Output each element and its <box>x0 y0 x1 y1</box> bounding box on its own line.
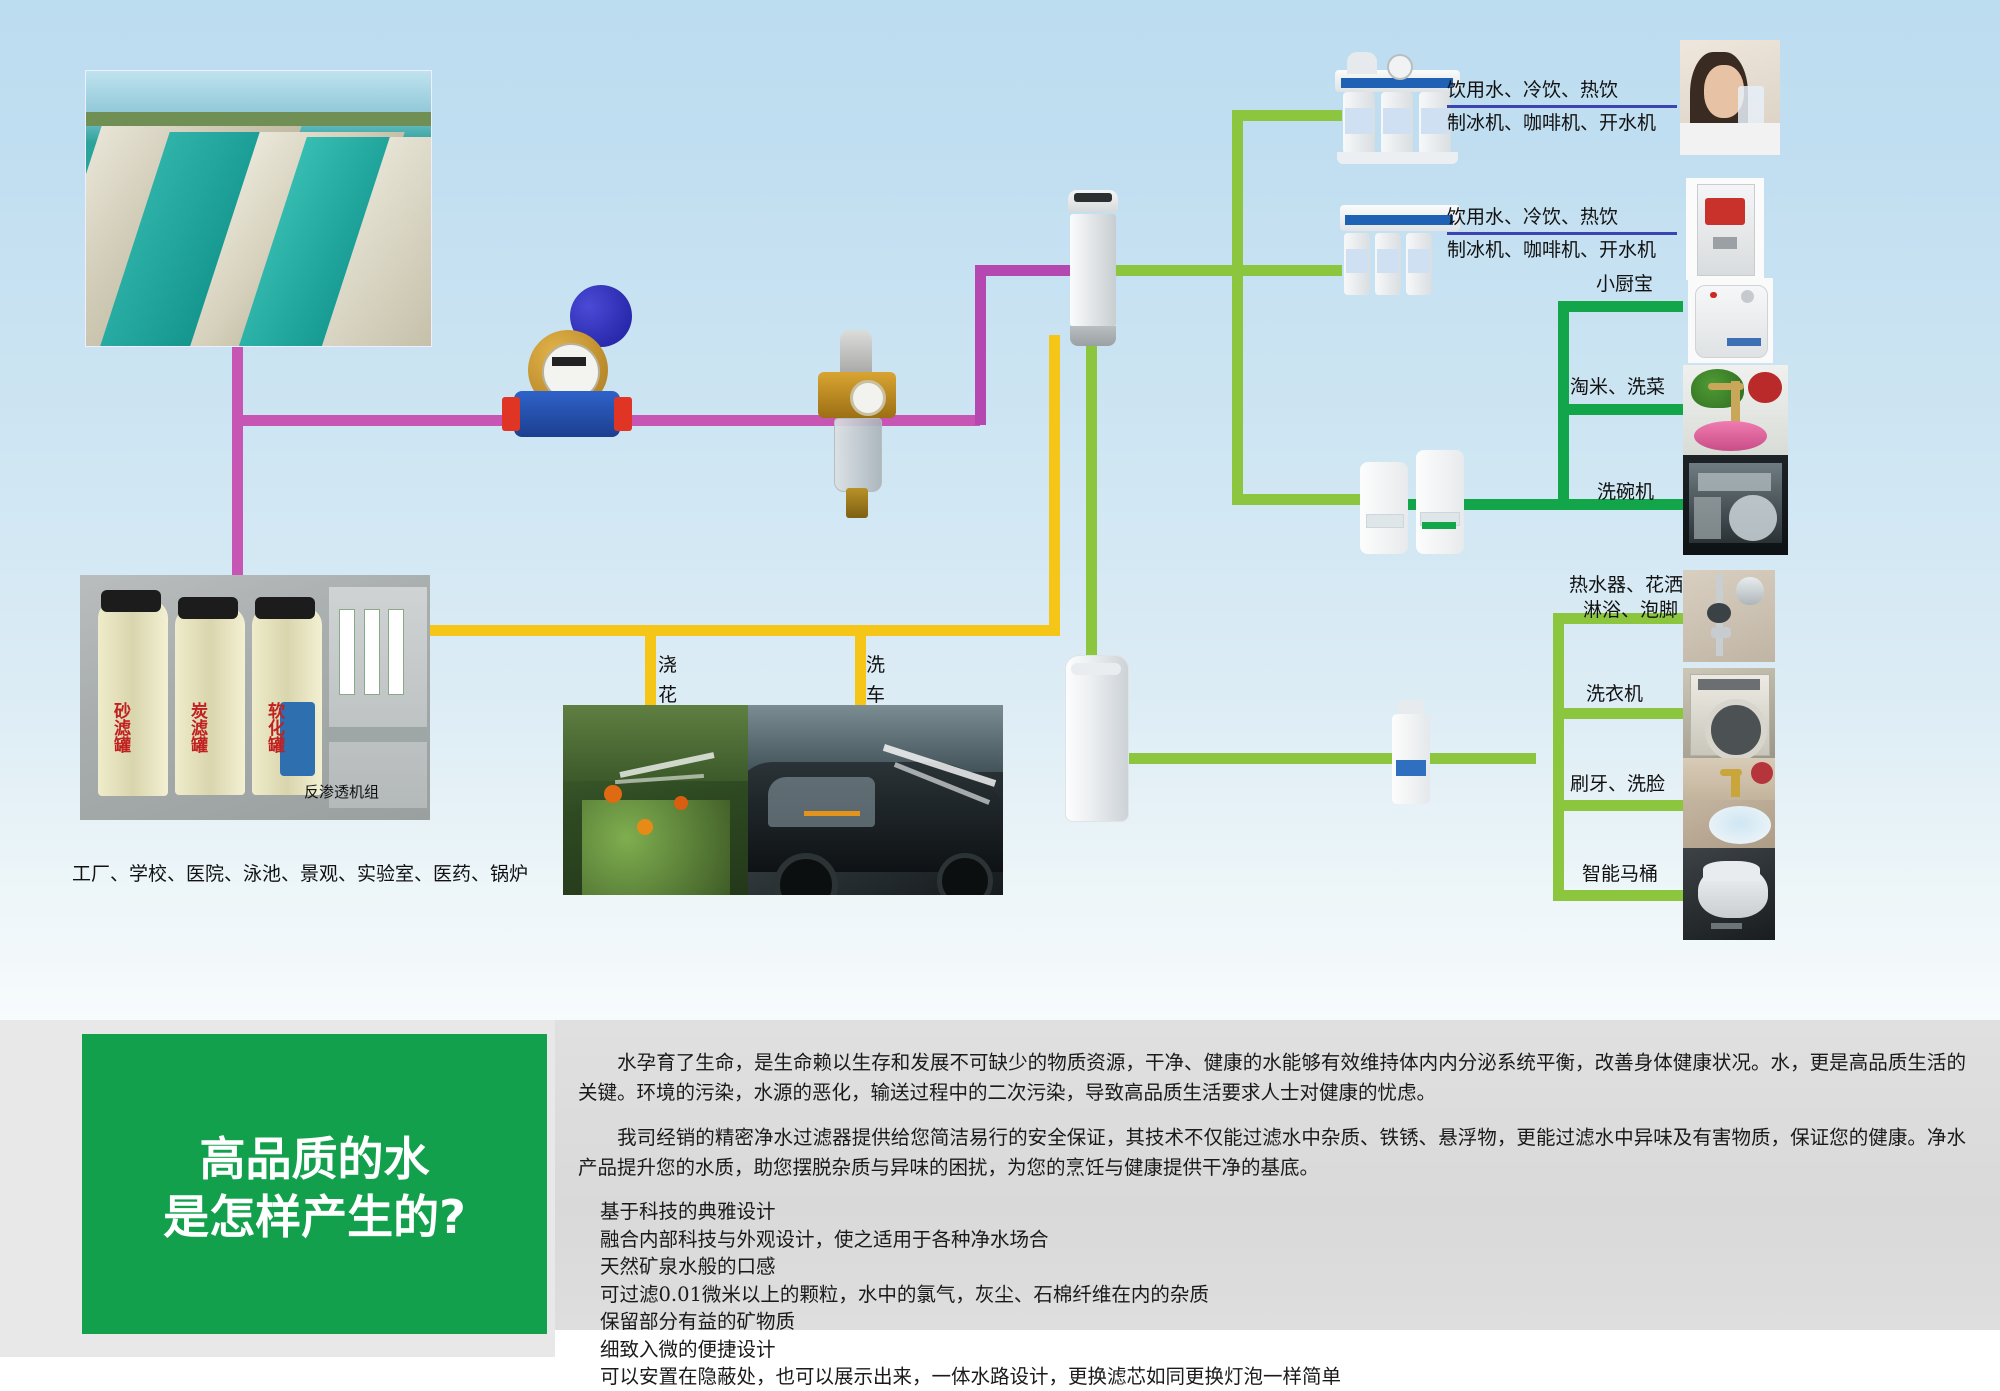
pipe-green-to-kitchen-filter <box>1232 494 1362 505</box>
branch-water-heater-shower: 热水器、花洒 淋浴、泡脚 <box>1569 573 1683 623</box>
branch-uf-drinking: 饮用水、冷饮、热饮 制冰机、咖啡机、开水机 <box>1447 205 1677 263</box>
pipe-green-softwater-out <box>1416 753 1536 764</box>
branch-ro-drinking-underline <box>1447 105 1677 108</box>
branch-uf-drinking-underline <box>1447 232 1677 235</box>
equipment-central-filter <box>1360 450 1470 555</box>
feature-item: 天然矿泉水般的口感 <box>600 1253 1980 1281</box>
feature-list: 基于科技的典雅设计 融合内部科技与外观设计，使之适用于各种净水场合 天然矿泉水般… <box>600 1198 1980 1391</box>
pipe-green-branchcol <box>1232 265 1243 505</box>
pipe-soft-br-washer <box>1553 708 1683 719</box>
label-water-heater-shower-l1: 热水器、花洒 <box>1569 573 1683 598</box>
system-diagram: 砂滤罐 炭滤罐 软化罐 反渗透机组 工厂、学校、医院、泳池、景观、实验室、医药、… <box>0 0 2000 1020</box>
ro-unit-label-main: 反渗透机组 <box>304 781 379 802</box>
label-mini-water-heater: 小厨宝 <box>1596 272 1653 297</box>
title-box: 高品质的水 是怎样产生的? <box>82 1034 547 1334</box>
pipe-prefilter-riser <box>975 265 986 425</box>
label-water-heater-shower-l2: 淋浴、泡脚 <box>1583 598 1683 623</box>
feature-item: 细致入微的便捷设计 <box>600 1336 1980 1364</box>
pipe-green-tank2-out <box>1086 753 1416 764</box>
pipe-green-main-vertical <box>1232 110 1243 276</box>
label-garden-watering: 浇花 <box>658 650 680 710</box>
label-rice-veg-wash: 淘米、洗菜 <box>1570 375 1665 400</box>
label-brush-face-wash: 刷牙、洗脸 <box>1570 772 1665 797</box>
pipe-yellow-riser <box>1049 335 1060 627</box>
title-line-2: 是怎样产生的? <box>82 1188 547 1246</box>
pipe-municipal-vertical-left <box>232 340 243 580</box>
equipment-post-filter <box>1390 700 1432 810</box>
equipment-water-meter <box>510 285 630 445</box>
photo-bathroom-sink <box>1683 758 1775 850</box>
pipe-soft-br-toilet <box>1553 890 1683 901</box>
feature-item: 保留部分有益的矿物质 <box>600 1308 1980 1336</box>
label-dishwasher: 洗碗机 <box>1597 480 1654 505</box>
equipment-pre-filter <box>812 330 902 520</box>
photo-woman-drinking <box>1680 40 1780 155</box>
pipe-yellow-garden-drop <box>645 625 656 705</box>
ro-tank-label-sand: 砂滤罐 <box>108 702 133 753</box>
photo-garden-watering <box>563 705 748 895</box>
label-washing-machine: 洗衣机 <box>1586 682 1643 707</box>
photo-smart-toilet <box>1683 848 1775 940</box>
bottom-panel: 高品质的水 是怎样产生的? 水孕育了生命，是生命赖以生存和发展不可缺少的物质资源… <box>0 1020 2000 1357</box>
photo-water-plant <box>85 70 432 347</box>
branch-uf-drinking-line2: 制冰机、咖啡机、开水机 <box>1447 238 1677 263</box>
branch-ro-drinking-line2: 制冰机、咖啡机、开水机 <box>1447 111 1677 136</box>
pipe-dkgreen-br-mini <box>1558 301 1683 312</box>
equipment-softener-column <box>1068 190 1118 350</box>
branch-ro-drinking: 饮用水、冷饮、热饮 制冰机、咖啡机、开水机 <box>1447 78 1677 136</box>
branch-ro-drinking-line1: 饮用水、冷饮、热饮 <box>1447 78 1677 103</box>
photo-mini-water-heater <box>1688 278 1773 363</box>
label-car-washing: 洗车 <box>866 650 888 710</box>
photo-washing-machine <box>1683 668 1775 760</box>
feature-item: 可过滤0.01微米以上的颗粒，水中的氯气，灰尘、石棉纤维在内的杂质 <box>600 1281 1980 1309</box>
equipment-ro-purifier <box>1335 48 1460 168</box>
pipe-soft-riser <box>1553 613 1564 900</box>
label-smart-toilet: 智能马桶 <box>1582 862 1658 887</box>
paragraph-2: 我司经销的精密净水过滤器提供给您简洁易行的安全保证，其技术不仅能过滤水中杂质、铁… <box>578 1123 1966 1183</box>
photo-instant-water-heater <box>1686 178 1764 280</box>
feature-item: 可以安置在隐蔽处，也可以展示出来，一体水路设计，更换滤芯如同更换灯泡一样简单 <box>600 1363 1980 1391</box>
title-line-1: 高品质的水 <box>82 1130 547 1188</box>
photo-vegetable-washing <box>1683 365 1788 455</box>
pipe-green-to-uf-unit <box>1232 265 1342 276</box>
equipment-uf-purifier <box>1340 205 1460 320</box>
ro-tank-label-carbon: 炭滤罐 <box>185 702 210 753</box>
ro-tank-label-softener: 软化罐 <box>262 702 287 753</box>
paragraph-1: 水孕育了生命，是生命赖以生存和发展不可缺少的物质资源，干净、健康的水能够有效维持… <box>578 1048 1966 1108</box>
title-lines: 高品质的水 是怎样产生的? <box>82 1130 547 1246</box>
ro-plant-caption: 工厂、学校、医院、泳池、景观、实验室、医药、锅炉 <box>72 862 528 887</box>
pipe-soft-br-brush <box>1553 800 1683 811</box>
photo-car-washing <box>748 705 1003 895</box>
feature-item: 基于科技的典雅设计 <box>600 1198 1980 1226</box>
feature-item: 融合内部科技与外观设计，使之适用于各种净水场合 <box>600 1226 1980 1254</box>
pipe-green-to-ro-unit <box>1232 110 1342 121</box>
pipe-yellow-carwash-drop <box>855 625 866 705</box>
poster-root: 砂滤罐 炭滤罐 软化罐 反渗透机组 工厂、学校、医院、泳池、景观、实验室、医药、… <box>0 0 2000 1357</box>
pipe-dkgreen-br-rice <box>1558 404 1686 415</box>
pipe-yellow-main <box>430 625 1060 636</box>
equipment-water-softener-tank <box>1065 655 1127 820</box>
photo-ro-plant: 砂滤罐 炭滤罐 软化罐 反渗透机组 <box>80 575 430 820</box>
photo-dishwasher <box>1683 455 1788 555</box>
branch-uf-drinking-line1: 饮用水、冷饮、热饮 <box>1447 205 1677 230</box>
photo-shower <box>1683 570 1775 662</box>
